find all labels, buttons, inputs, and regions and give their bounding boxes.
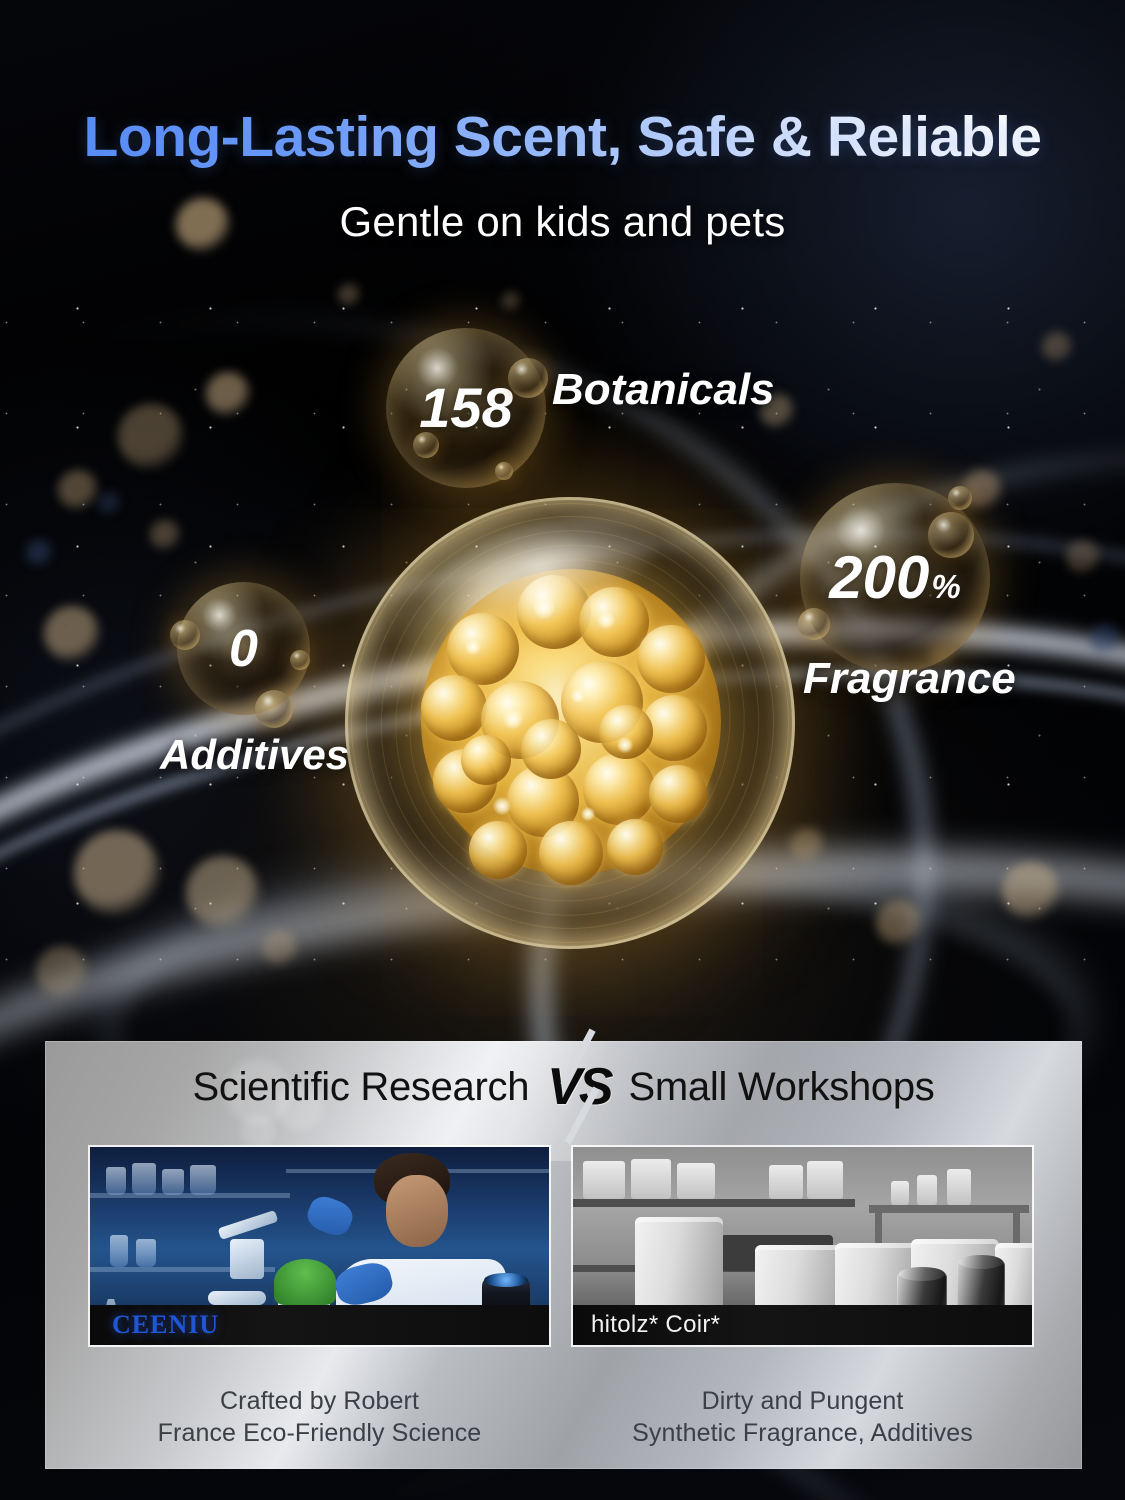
- accent-bubble-botanicals-b: [413, 432, 439, 458]
- comparison-title-left: Scientific Research: [192, 1065, 529, 1110]
- lab-bottle-3: [162, 1169, 184, 1195]
- bokeh-dot: [44, 606, 100, 662]
- bokeh-dot: [150, 520, 180, 550]
- caption-right-line1: Dirty and Pungent: [571, 1385, 1034, 1417]
- bokeh-dot: [186, 856, 260, 930]
- bokeh-dot: [1066, 540, 1100, 574]
- workshop-canister-left-top: [899, 1267, 945, 1281]
- accent-bubble-botanicals-a: [508, 358, 548, 398]
- workshop-canister-right-top: [959, 1255, 1003, 1269]
- bokeh-dot: [118, 404, 184, 470]
- sphere-rim: [345, 497, 795, 949]
- callout-label-additives: Additives: [160, 731, 349, 779]
- panel-bokeh-3: [241, 1115, 275, 1149]
- bokeh-dot: [58, 470, 98, 510]
- workshop-tabletop-jar-3: [947, 1169, 971, 1205]
- accent-bubble-fragrance-b: [948, 486, 972, 510]
- lab-bottle-5: [110, 1235, 128, 1267]
- workshop-shelf-top: [573, 1199, 855, 1207]
- bokeh-dot: [74, 830, 160, 916]
- bokeh-dot: [36, 946, 88, 998]
- workshop-jug-1: [583, 1161, 625, 1199]
- workshop-jug-2: [631, 1159, 671, 1199]
- workshop-table-top: [869, 1205, 1029, 1213]
- lab-microscope-body: [230, 1239, 264, 1279]
- workshop-jug-5: [807, 1161, 843, 1199]
- callout-bubble-additives: 0: [177, 582, 310, 715]
- bokeh-dot: [262, 930, 298, 966]
- callout-bubble-fragrance: 200%: [800, 483, 990, 673]
- workshop-tabletop-jar-1: [891, 1181, 909, 1205]
- accent-bubble-additives-c: [290, 650, 310, 670]
- callout-value-botanicals: 158: [419, 380, 512, 436]
- accent-bubble-additives-b: [255, 690, 293, 728]
- vs-badge-icon: VS: [545, 1061, 612, 1113]
- brand-label-ceeniu: CEENIU: [112, 1310, 219, 1340]
- callout-suffix-fragrance: %: [931, 568, 960, 605]
- lab-plant: [274, 1259, 336, 1305]
- bokeh-dot: [876, 900, 922, 946]
- callout-bubble-botanicals: 158: [386, 328, 546, 488]
- comparison-header: Scientific Research VS Small Workshops: [45, 1061, 1082, 1113]
- product-infographic: Long-Lasting Scent, Safe & Reliable Gent…: [0, 0, 1125, 1500]
- accent-bubble-fragrance-a: [928, 512, 974, 558]
- caption-small-workshops: Dirty and Pungent Synthetic Fragrance, A…: [571, 1385, 1034, 1449]
- callout-value-fragrance: 200%: [829, 548, 960, 608]
- bokeh-dot: [26, 540, 52, 566]
- headline-wrap: Long-Lasting Scent, Safe & Reliable: [0, 104, 1125, 170]
- accent-bubble-fragrance-c: [798, 608, 830, 640]
- accent-bubble-additives-a: [170, 620, 200, 650]
- photo-small-workshops: hitolz* Coir*: [571, 1145, 1034, 1347]
- bokeh-dot: [502, 292, 520, 310]
- caption-left-line2: France Eco-Friendly Science: [88, 1417, 551, 1449]
- accent-bubble-botanicals-c: [495, 462, 513, 480]
- workshop-jug-3: [677, 1163, 715, 1199]
- brand-label-others: hitolz* Coir*: [591, 1311, 720, 1339]
- lab-bottle-2: [132, 1163, 156, 1195]
- lab-bottle-6: [136, 1239, 156, 1267]
- caption-left-line1: Crafted by Robert: [88, 1385, 551, 1417]
- brand-bar-right: hitolz* Coir*: [573, 1305, 1032, 1345]
- caption-right-line2: Synthetic Fragrance, Additives: [571, 1417, 1034, 1449]
- photo-scientific-research: CEENIU: [88, 1145, 551, 1347]
- comparison-title-right: Small Workshops: [629, 1065, 935, 1110]
- page-title: Long-Lasting Scent, Safe & Reliable: [0, 104, 1125, 170]
- lab-bottle-4: [190, 1165, 216, 1195]
- bokeh-dot: [1090, 624, 1120, 654]
- lab-bottle-1: [106, 1167, 126, 1195]
- bokeh-dot: [206, 372, 250, 416]
- callout-value-additives: 0: [229, 623, 258, 675]
- lab-diffuser-led: [484, 1273, 528, 1287]
- bokeh-dot: [1002, 862, 1060, 920]
- caption-scientific-research: Crafted by Robert France Eco-Friendly Sc…: [88, 1385, 551, 1449]
- page-subtitle: Gentle on kids and pets: [0, 198, 1125, 246]
- bokeh-dot: [338, 284, 360, 306]
- workshop-jug-4: [769, 1165, 803, 1199]
- brand-bar-left: CEENIU: [90, 1305, 549, 1345]
- golden-sphere: [345, 497, 795, 949]
- callout-label-botanicals: Botanicals: [552, 365, 775, 415]
- bokeh-dot: [1042, 332, 1072, 362]
- lab-microscope-base: [208, 1291, 266, 1305]
- bokeh-dot: [98, 492, 120, 514]
- callout-number-fragrance: 200: [829, 544, 929, 611]
- bokeh-dot: [790, 828, 824, 862]
- workshop-tabletop-jar-2: [917, 1175, 937, 1205]
- lab-scientist-face: [386, 1175, 448, 1247]
- callout-label-fragrance: Fragrance: [803, 654, 1016, 704]
